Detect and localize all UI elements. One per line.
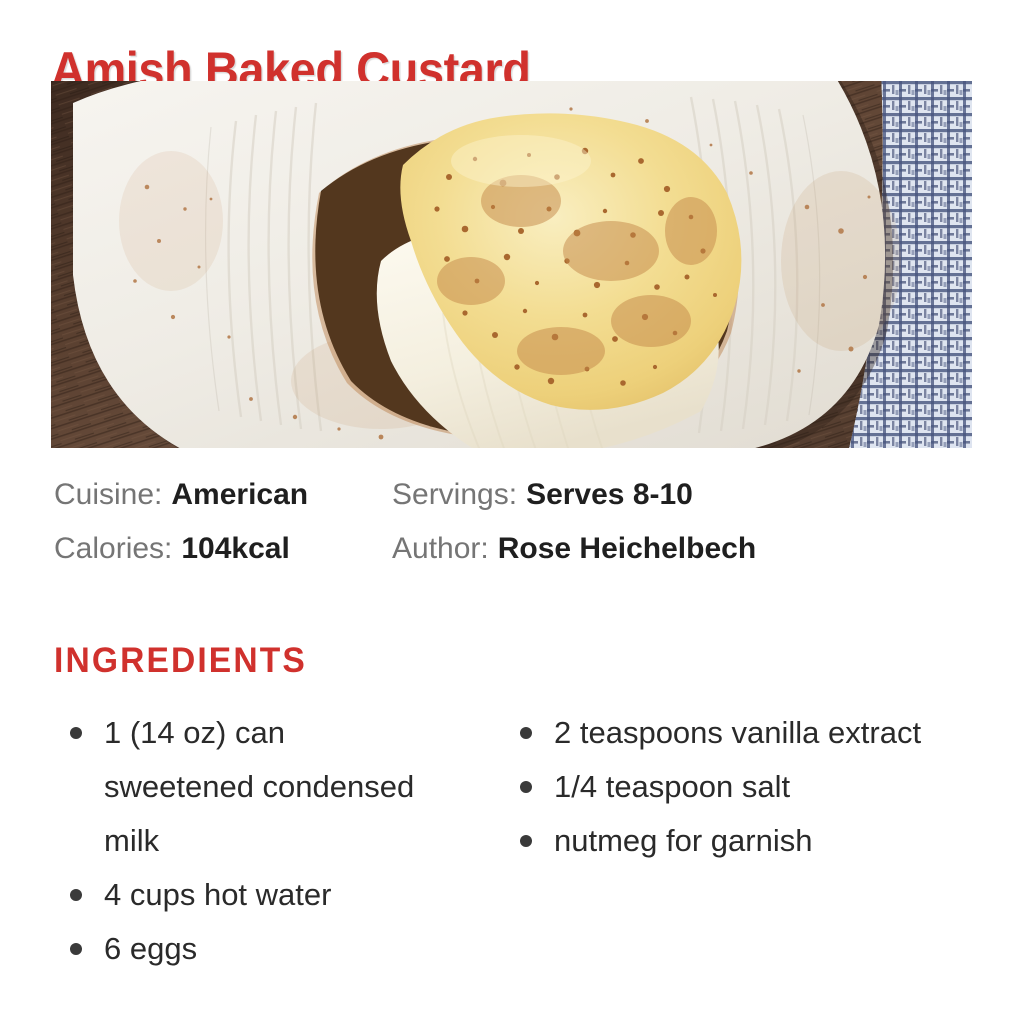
meta-calories-label: Calories: [54,532,172,566]
ingredients-heading: INGREDIENTS [54,641,307,681]
list-item: 6 eggs [52,922,434,976]
ingredients-section: 1 (14 oz) can sweetened condensed milk 4… [52,706,972,976]
meta-row: Cuisine: American Servings: Serves 8-10 [54,468,954,522]
ingredient-text: 4 cups hot water [104,877,331,912]
bullet-icon [70,727,82,739]
meta-cuisine: Cuisine: American [54,478,392,512]
meta-servings-label: Servings: [392,478,517,512]
bullet-icon [520,835,532,847]
meta-calories: Calories: 104kcal [54,532,392,566]
recipe-meta: Cuisine: American Servings: Serves 8-10 … [54,468,954,576]
meta-cuisine-label: Cuisine: [54,478,162,512]
ingredient-text: 1 (14 oz) can sweetened condensed milk [104,715,414,858]
meta-author-label: Author: [392,532,489,566]
food-photo-illustration [51,81,972,448]
ingredient-text: 1/4 teaspoon salt [554,769,790,804]
list-item: 1 (14 oz) can sweetened condensed milk [52,706,434,868]
recipe-card: Amish Baked Custard [0,0,1024,1010]
meta-servings: Servings: Serves 8-10 [392,478,693,512]
ingredient-text: nutmeg for garnish [554,823,812,858]
ingredients-column-right: 2 teaspoons vanilla extract 1/4 teaspoon… [502,706,952,976]
meta-cuisine-value: American [171,478,308,512]
list-item: 4 cups hot water [52,868,434,922]
ingredients-list-right: 2 teaspoons vanilla extract 1/4 teaspoon… [502,706,952,868]
recipe-hero-image [51,81,972,448]
bullet-icon [520,781,532,793]
ingredients-list-left: 1 (14 oz) can sweetened condensed milk 4… [52,706,502,976]
ingredient-text: 2 teaspoons vanilla extract [554,715,921,750]
meta-author-value: Rose Heichelbech [498,532,756,566]
meta-servings-value: Serves 8-10 [526,478,693,512]
ingredients-column-left: 1 (14 oz) can sweetened condensed milk 4… [52,706,502,976]
bullet-icon [520,727,532,739]
bullet-icon [70,889,82,901]
bullet-icon [70,943,82,955]
meta-calories-value: 104kcal [181,532,289,566]
list-item: nutmeg for garnish [502,814,926,868]
meta-author: Author: Rose Heichelbech [392,532,756,566]
list-item: 1/4 teaspoon salt [502,760,926,814]
meta-row: Calories: 104kcal Author: Rose Heichelbe… [54,522,954,576]
ingredient-text: 6 eggs [104,931,197,966]
list-item: 2 teaspoons vanilla extract [502,706,926,760]
